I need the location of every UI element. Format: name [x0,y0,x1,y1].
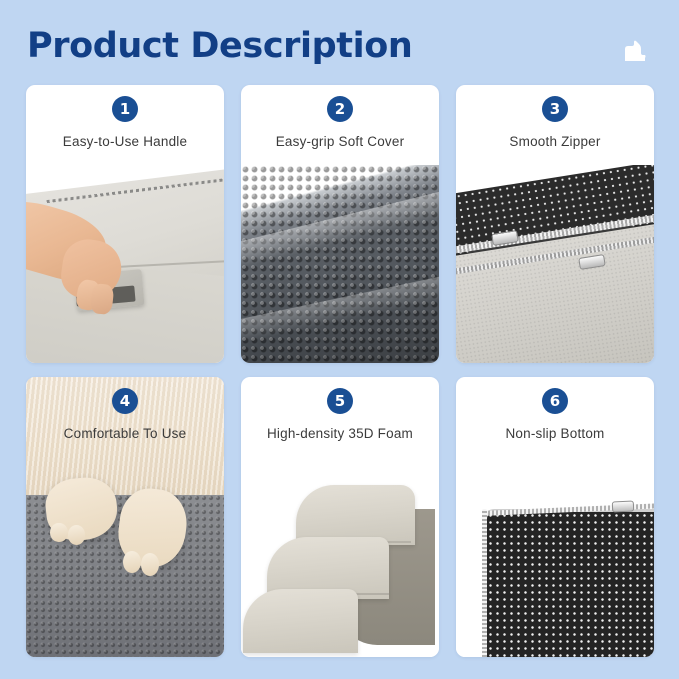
hand-gripping-fabric-handle-photo [26,165,224,363]
page-title: Product Description [27,26,412,66]
feature-card-2[interactable]: 2 Easy-grip Soft Cover [241,85,439,363]
feature-card-6[interactable]: 6 Non-slip Bottom [456,377,654,657]
stair-step-shape-icon [622,40,646,62]
card-header-5: 5 High-density 35D Foam [241,377,439,457]
card-header-3: 3 Smooth Zipper [456,85,654,165]
step-badge-2: 2 [327,96,353,122]
card-label-5: High-density 35D Foam [267,426,413,441]
step-badge-3: 3 [542,96,568,122]
black-dotted-non-slip-base-photo [456,457,654,657]
three-step-beige-foam-pet-stairs-photo [241,457,439,657]
step-badge-6: 6 [542,388,568,414]
card-header-1: 1 Easy-to-Use Handle [26,85,224,165]
step-badge-1: 1 [112,96,138,122]
double-pull-zipper-closeup-photo [456,165,654,363]
dog-paws-on-gray-fabric-photo [26,377,224,657]
card-header-2: 2 Easy-grip Soft Cover [241,85,439,165]
gray-bobble-knit-fabric-closeup-photo [241,165,439,363]
feature-card-1[interactable]: 1 Easy-to-Use Handle [26,85,224,363]
step-badge-5: 5 [327,388,353,414]
feature-card-grid: 1 Easy-to-Use Handle 2 Easy-grip Soft Co… [26,85,654,657]
feature-card-3[interactable]: 3 Smooth Zipper [456,85,654,363]
page-header: Product Description [0,0,679,84]
card-label-2: Easy-grip Soft Cover [276,134,405,149]
card-label-3: Smooth Zipper [509,134,600,149]
card-label-6: Non-slip Bottom [505,426,604,441]
feature-card-4[interactable]: 4 Comfortable To Use [26,377,224,657]
feature-card-5[interactable]: 5 High-density 35D Foam [241,377,439,657]
card-header-6: 6 Non-slip Bottom [456,377,654,457]
card-label-1: Easy-to-Use Handle [63,134,187,149]
